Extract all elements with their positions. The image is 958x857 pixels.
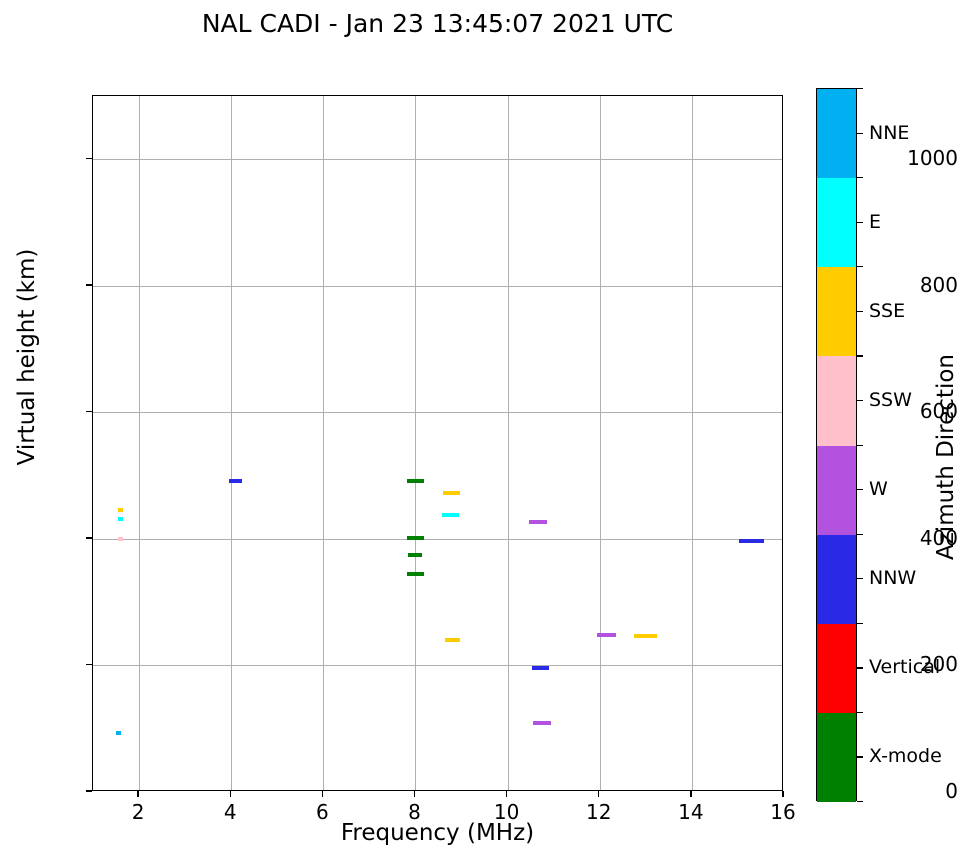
data-point-x-mode [407, 479, 424, 483]
data-point-sse [118, 508, 123, 512]
plot-area[interactable] [92, 95, 783, 791]
colorbar-segment-x-mode[interactable] [817, 713, 856, 802]
x-tick-mark-6 [322, 791, 323, 797]
colorbar-boundary-tick-2 [857, 266, 863, 267]
colorbar-label-e: E [869, 211, 881, 233]
colorbar-boundary-tick-3 [857, 355, 863, 356]
colorbar-segment-sse[interactable] [817, 267, 856, 356]
colorbar-tick-1 [857, 222, 863, 223]
colorbar-tick-0 [857, 133, 863, 134]
data-point-x-mode [408, 553, 422, 557]
gridline-y-600 [93, 412, 782, 413]
colorbar-boundary-tick-5 [857, 534, 863, 535]
colorbar-boundary-tick-7 [857, 712, 863, 713]
data-point-x-mode [407, 536, 424, 540]
y-tick-mark-400 [86, 537, 92, 538]
y-tick-label-0: 0 [880, 779, 958, 803]
colorbar-axis-label: Azimuth Direction [933, 177, 958, 737]
colorbar-label-w: W [869, 478, 888, 500]
gridline-y-800 [93, 286, 782, 287]
y-tick-mark-600 [86, 411, 92, 412]
y-axis-label: Virtual height (km) [14, 77, 40, 637]
gridline-x-12 [600, 96, 601, 790]
y-tick-mark-0 [86, 790, 92, 791]
y-tick-mark-1000 [86, 158, 92, 159]
data-point-sse [443, 491, 460, 495]
colorbar-boundary-tick-4 [857, 445, 863, 446]
colorbar-tick-2 [857, 311, 863, 312]
colorbar-tick-7 [857, 756, 863, 757]
colorbar-segment-ssw[interactable] [817, 356, 856, 445]
chart-title: NAL CADI - Jan 23 13:45:07 2021 UTC [0, 9, 875, 38]
x-axis-label: Frequency (MHz) [92, 820, 783, 846]
data-point-nne [116, 731, 121, 735]
gridline-y-1000 [93, 159, 782, 160]
gridline-x-8 [415, 96, 416, 790]
data-point-sse [445, 638, 460, 642]
x-tick-mark-8 [414, 791, 415, 797]
x-tick-mark-2 [137, 791, 138, 797]
x-tick-mark-10 [506, 791, 507, 797]
y-tick-label-1000: 1000 [880, 146, 958, 170]
colorbar-tick-3 [857, 400, 863, 401]
data-point-nnw [532, 666, 549, 670]
data-point-e [442, 513, 459, 517]
colorbar-boundary-tick-1 [857, 177, 863, 178]
ionogram-figure: NAL CADI - Jan 23 13:45:07 2021 UTC 0200… [0, 0, 958, 857]
colorbar-tick-4 [857, 489, 863, 490]
colorbar-label-nnw: NNW [869, 567, 916, 589]
colorbar-label-nne: NNE [869, 122, 909, 144]
data-point-e [118, 517, 123, 521]
data-point-w [529, 520, 547, 524]
colorbar-tick-5 [857, 578, 863, 579]
x-tick-mark-14 [690, 791, 691, 797]
colorbar-segment-nnw[interactable] [817, 535, 856, 624]
gridline-x-2 [139, 96, 140, 790]
colorbar-label-vertical: Vertical [869, 656, 940, 678]
azimuth-direction-colorbar[interactable] [816, 88, 857, 801]
gridline-x-6 [323, 96, 324, 790]
x-tick-mark-12 [598, 791, 599, 797]
y-tick-mark-800 [86, 284, 92, 285]
data-point-w [597, 633, 616, 637]
gridline-x-10 [508, 96, 509, 790]
colorbar-segment-e[interactable] [817, 178, 856, 267]
y-tick-mark-200 [86, 664, 92, 665]
gridline-x-14 [692, 96, 693, 790]
colorbar-tick-6 [857, 667, 863, 668]
colorbar-segment-vertical[interactable] [817, 624, 856, 713]
x-tick-mark-4 [230, 791, 231, 797]
colorbar-edge-tick-1 [857, 801, 863, 802]
data-point-x-mode [407, 572, 424, 576]
colorbar-label-ssw: SSW [869, 389, 912, 411]
data-point-nnw [229, 479, 242, 483]
x-tick-mark-16 [782, 791, 783, 797]
data-point-sse [634, 634, 657, 638]
data-point-ssw [118, 537, 123, 541]
data-point-nnw [739, 539, 764, 543]
colorbar-boundary-tick-6 [857, 623, 863, 624]
gridline-y-200 [93, 665, 782, 666]
colorbar-label-x-mode: X-mode [869, 745, 942, 767]
gridline-y-400 [93, 539, 782, 540]
data-point-w [533, 721, 551, 725]
colorbar-label-sse: SSE [869, 300, 905, 322]
colorbar-segment-nne[interactable] [817, 89, 856, 178]
colorbar-segment-w[interactable] [817, 446, 856, 535]
colorbar-edge-tick-0 [857, 88, 863, 89]
gridline-x-4 [231, 96, 232, 790]
